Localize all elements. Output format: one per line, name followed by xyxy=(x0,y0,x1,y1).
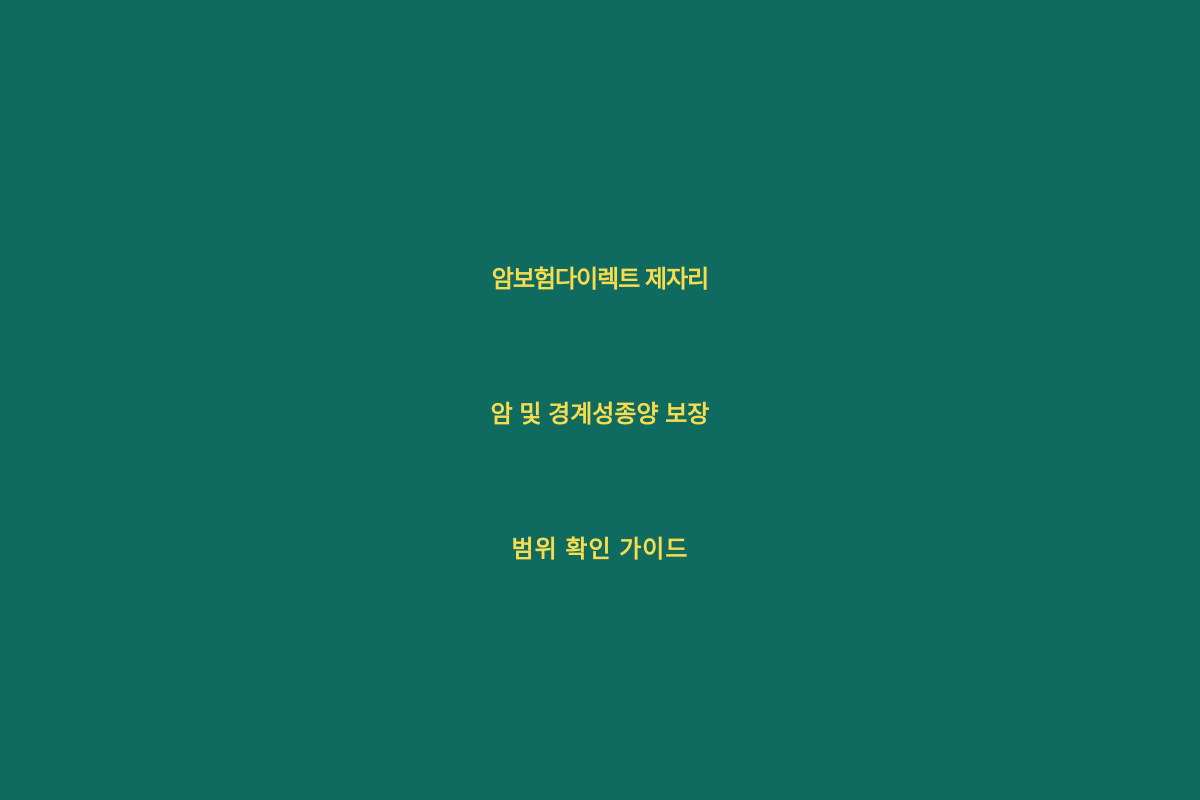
headline-block: 암보험다이렉트 제자리 암 및 경계성종양 보장 범위 확인 가이드 xyxy=(0,212,1200,617)
headline-line-2: 암 및 경계성종양 보장 xyxy=(40,347,1160,482)
title-card: 암보험다이렉트 제자리 암 및 경계성종양 보장 범위 확인 가이드 xyxy=(0,0,1200,800)
headline-line-3: 범위 확인 가이드 xyxy=(40,482,1160,617)
headline-line-1: 암보험다이렉트 제자리 xyxy=(40,212,1160,347)
